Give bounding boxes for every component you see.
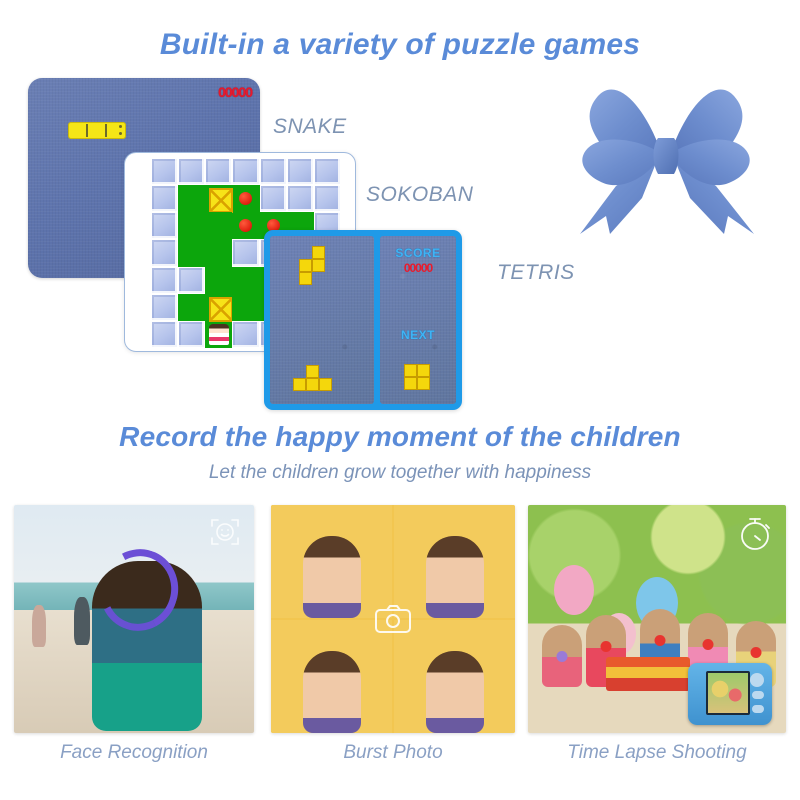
sokoban-cell-wall — [178, 321, 205, 348]
tetris-block — [312, 246, 325, 259]
photo-caption-time-lapse: Time Lapse Shooting — [528, 742, 786, 764]
tetris-score-value: 00000 — [380, 261, 456, 275]
sokoban-cell-crate — [205, 185, 232, 212]
tetris-block — [306, 365, 319, 378]
tetris-block — [299, 272, 312, 285]
sokoban-cell-floor — [178, 212, 205, 239]
sokoban-cell-floor — [205, 267, 232, 294]
tetris-block — [312, 259, 325, 272]
sokoban-cell-wall — [232, 158, 259, 185]
photo-card-time-lapse — [528, 505, 786, 733]
photo-card-face-recognition — [14, 505, 254, 733]
sokoban-cell-wall — [151, 294, 178, 321]
sokoban-cell-wall — [178, 267, 205, 294]
sokoban-cell-floor — [205, 239, 232, 266]
blue-ribbon-bow-icon — [558, 66, 774, 236]
sokoban-cell-wall — [260, 158, 287, 185]
sokoban-cell-dot — [232, 212, 259, 239]
background-person — [74, 597, 90, 645]
sokoban-cell-player — [205, 321, 232, 348]
kids-camera-device — [688, 663, 772, 725]
photo-card-burst-photo — [271, 505, 515, 733]
burst-frame — [271, 505, 392, 618]
tetris-block — [319, 378, 332, 391]
tetris-block — [417, 364, 430, 377]
tetris-game-screen: SCORE 00000 NEXT — [264, 230, 462, 410]
snake-body — [68, 122, 126, 139]
balloon — [554, 565, 594, 615]
tetris-next-label: NEXT — [380, 328, 456, 342]
sokoban-cell-wall — [151, 239, 178, 266]
tetris-score-label: SCORE — [380, 246, 456, 260]
page-title-record: Record the happy moment of the children — [0, 421, 800, 453]
sokoban-cell-wall — [314, 185, 341, 212]
camera-dpad[interactable] — [750, 673, 764, 687]
sokoban-cell-wall — [151, 321, 178, 348]
page-title-games: Built-in a variety of puzzle games — [0, 28, 800, 62]
snake-score-value: 00000 — [218, 84, 252, 100]
party-child — [542, 625, 582, 687]
burst-frame — [394, 505, 515, 618]
photo-caption-burst-photo: Burst Photo — [271, 742, 515, 764]
sokoban-cell-dot — [232, 185, 259, 212]
sokoban-cell-wall — [287, 185, 314, 212]
camera-display — [706, 671, 750, 715]
sokoban-cell-wall — [314, 158, 341, 185]
sokoban-cell-floor — [178, 294, 205, 321]
sokoban-cell-wall — [178, 158, 205, 185]
background-person — [32, 605, 46, 647]
birthday-cake — [606, 657, 690, 691]
tetris-block — [404, 364, 417, 377]
game-label-tetris: TETRIS — [497, 261, 575, 285]
sokoban-cell-wall — [151, 185, 178, 212]
sokoban-cell-wall — [232, 239, 259, 266]
tetris-block — [299, 259, 312, 272]
sokoban-cell-floor — [232, 267, 259, 294]
burst-frame — [271, 620, 392, 733]
sokoban-cell-wall — [287, 158, 314, 185]
sokoban-cell-wall — [151, 158, 178, 185]
tetris-block — [293, 378, 306, 391]
page-root: Built-in a variety of puzzle games 00000… — [0, 0, 800, 800]
camera-icon — [374, 603, 412, 635]
sokoban-cell-wall — [205, 158, 232, 185]
tetris-playfield — [270, 236, 374, 404]
game-label-sokoban: SOKOBAN — [366, 183, 473, 207]
sokoban-cell-wall — [232, 321, 259, 348]
tetris-block — [306, 378, 319, 391]
camera-button[interactable] — [752, 705, 764, 713]
sokoban-cell-wall — [151, 212, 178, 239]
camera-button[interactable] — [752, 691, 764, 699]
burst-frame — [394, 620, 515, 733]
face-detect-icon — [208, 515, 242, 549]
game-label-snake: SNAKE — [273, 115, 347, 139]
stopwatch-icon — [736, 515, 774, 553]
sokoban-cell-floor — [178, 185, 205, 212]
sokoban-cell-floor — [178, 239, 205, 266]
tetris-info-panel: SCORE 00000 NEXT — [380, 236, 456, 404]
sokoban-cell-wall — [260, 185, 287, 212]
tetris-block — [404, 377, 417, 390]
page-subtitle-record: Let the children grow together with happ… — [0, 462, 800, 484]
sokoban-cell-floor — [232, 294, 259, 321]
photo-caption-face-recognition: Face Recognition — [14, 742, 254, 764]
sokoban-cell-floor — [205, 212, 232, 239]
tetris-block — [417, 377, 430, 390]
sokoban-cell-wall — [151, 267, 178, 294]
sokoban-cell-crate — [205, 294, 232, 321]
